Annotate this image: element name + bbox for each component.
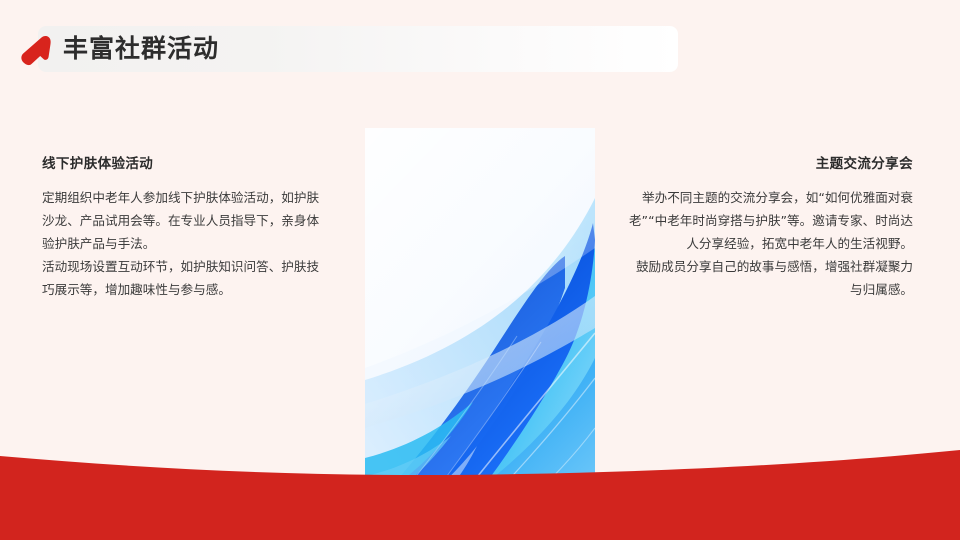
column-heading-right: 主题交流分享会: [628, 152, 913, 172]
paragraph: 举办不同主题的交流分享会，如“如何优雅面对衰老”“中老年时尚穿搭与护肤”等。邀请…: [628, 186, 913, 255]
column-body-right: 举办不同主题的交流分享会，如“如何优雅面对衰老”“中老年时尚穿搭与护肤”等。邀请…: [628, 186, 913, 301]
abstract-blue-wave-image: [365, 128, 595, 540]
page-title: 丰富社群活动: [63, 26, 219, 72]
paragraph: 定期组织中老年人参加线下护肤体验活动，如护肤沙龙、产品试用会等。在专业人员指导下…: [42, 186, 327, 255]
slide-canvas: 丰富社群活动: [0, 0, 960, 540]
paragraph: 活动现场设置互动环节，如护肤知识问答、护肤技巧展示等，增加趣味性与参与感。: [42, 255, 327, 301]
column-heading-left: 线下护肤体验活动: [42, 152, 327, 172]
content-column-left: 线下护肤体验活动 定期组织中老年人参加线下护肤体验活动，如护肤沙龙、产品试用会等…: [42, 152, 327, 301]
arrow-up-right-icon: [14, 26, 60, 72]
content-column-right: 主题交流分享会 举办不同主题的交流分享会，如“如何优雅面对衰老”“中老年时尚穿搭…: [628, 152, 913, 301]
paragraph: 鼓励成员分享自己的故事与感悟，增强社群凝聚力与归属感。: [628, 255, 913, 301]
column-body-left: 定期组织中老年人参加线下护肤体验活动，如护肤沙龙、产品试用会等。在专业人员指导下…: [42, 186, 327, 301]
